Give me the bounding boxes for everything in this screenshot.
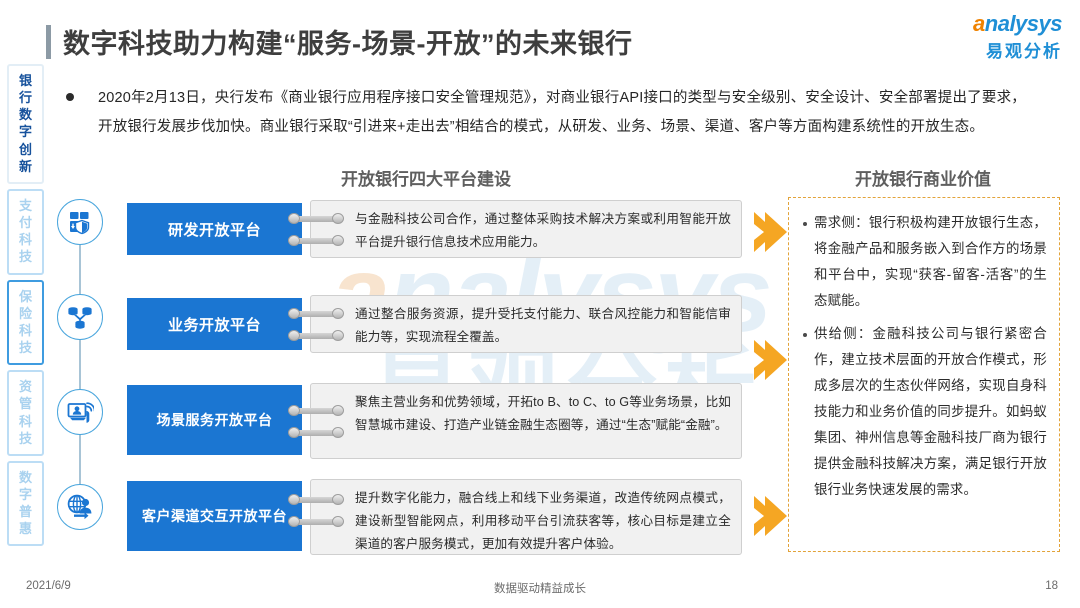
sidebar-item-char: 普 <box>9 503 42 520</box>
sidebar-item-char: 行 <box>9 89 42 106</box>
box-shield-icon <box>57 199 103 245</box>
chain-link-icon <box>288 213 348 224</box>
section-heading-platforms: 开放银行四大平台建设 <box>341 165 511 190</box>
sidebar-item-bank-digital-innovation[interactable]: 银 行 数 字 创 新 <box>7 64 44 184</box>
sidebar-item-char: 惠 <box>9 520 42 537</box>
platform-name: 场景服务开放平台 <box>157 410 273 430</box>
chain-link-icon <box>288 330 348 341</box>
sidebar-item-char: 技 <box>9 248 42 265</box>
platform-box-rd[interactable]: 研发开放平台 <box>127 203 302 255</box>
footer-tagline: 数据驱动精益成长 <box>0 580 1080 596</box>
arrow-chevron-icon <box>752 210 788 254</box>
sidebar-item-insurance-tech[interactable]: 保 险 科 技 <box>7 280 44 366</box>
sidebar-item-char: 新 <box>9 158 42 175</box>
database-funnel-icon <box>57 294 103 340</box>
sidebar-item-digital-inclusive[interactable]: 数 字 普 惠 <box>7 461 44 547</box>
brand-logo-en-rest: nalysys <box>985 11 1062 36</box>
bullet-dot-icon <box>803 222 807 226</box>
footer-page-number: 18 <box>1045 580 1058 592</box>
sidebar-item-char: 付 <box>9 214 42 231</box>
platform-desc-scenario: 聚焦主营业务和优势领域，开拓to B、to C、to G等业务场景，比如智慧城市… <box>310 383 742 459</box>
platform-name: 业务开放平台 <box>168 314 261 335</box>
chain-link-icon <box>288 235 348 246</box>
sidebar-item-char: 支 <box>9 197 42 214</box>
connector-link-channel <box>288 494 348 538</box>
platform-name: 研发开放平台 <box>168 219 261 240</box>
platform-box-channel[interactable]: 客户渠道交互开放平台 <box>127 481 302 551</box>
sidebar-item-char: 技 <box>9 430 42 447</box>
sidebar-tabs: 银 行 数 字 创 新 支 付 科 技 保 险 科 技 资 管 科 技 数 字 <box>7 64 44 551</box>
sidebar-item-char: 字 <box>9 123 42 140</box>
chain-link-icon <box>288 405 348 416</box>
value-point-text: 供给侧：金融科技公司与银行紧密合作，建立技术层面的开放合作模式，形成多层次的生态… <box>814 321 1047 504</box>
footer: 2021/6/9 数据驱动精益成长 18 <box>0 580 1080 598</box>
platform-box-business[interactable]: 业务开放平台 <box>127 298 302 350</box>
platform-name: 客户渠道交互开放平台 <box>142 506 287 526</box>
page-title-text: 数字科技助力构建“服务-场景-开放”的未来银行 <box>63 22 632 61</box>
arrow-chevron-icon <box>752 338 788 382</box>
chain-link-icon <box>288 516 348 527</box>
brand-logo-cn: 易观分析 <box>973 37 1062 62</box>
platform-box-scenario[interactable]: 场景服务开放平台 <box>127 385 302 455</box>
platform-desc-text: 聚焦主营业务和优势领域，开拓to B、to C、to G等业务场景，比如智慧城市… <box>311 384 741 444</box>
brand-logo-a-glyph: a <box>973 11 985 36</box>
business-value-panel: 需求侧：银行积极构建开放银行生态，将金融产品和服务嵌入到合作方的场景和平台中，实… <box>788 197 1060 552</box>
value-point-demand-side: 需求侧：银行积极构建开放银行生态，将金融产品和服务嵌入到合作方的场景和平台中，实… <box>801 210 1047 315</box>
connector-link-business <box>288 308 348 352</box>
platform-desc-text: 通过整合服务资源，提升受托支付能力、联合风控能力和智能信审能力等，实现流程全覆盖… <box>311 296 741 356</box>
intro-paragraph: 2020年2月13日，央行发布《商业银行应用程序接口安全管理规范》，对商业银行A… <box>66 84 1026 142</box>
timeline-rail <box>79 245 81 500</box>
platform-desc-business: 通过整合服务资源，提升受托支付能力、联合风控能力和智能信审能力等，实现流程全覆盖… <box>310 295 742 353</box>
platform-desc-text: 与金融科技公司合作，通过整体采购技术解决方案或利用智能开放平台提升银行信息技术应… <box>311 201 741 261</box>
brand-logo-en: analysys <box>973 12 1062 35</box>
sidebar-item-char: 字 <box>9 486 42 503</box>
arrow-chevron-icon <box>752 494 788 538</box>
sidebar-item-char: 管 <box>9 395 42 412</box>
sidebar-item-char: 资 <box>9 378 42 395</box>
page-title: 数字科技助力构建“服务-场景-开放”的未来银行 <box>46 22 632 61</box>
globe-person-icon <box>57 484 103 530</box>
chain-link-icon <box>288 494 348 505</box>
sidebar-item-char: 数 <box>9 469 42 486</box>
sidebar-item-char: 险 <box>9 305 42 322</box>
connector-link-scenario <box>288 405 348 449</box>
sidebar-item-payment-tech[interactable]: 支 付 科 技 <box>7 189 44 275</box>
sidebar-item-char: 银 <box>9 72 42 89</box>
bullet-dot-icon <box>803 333 807 337</box>
section-heading-business-value: 开放银行商业价值 <box>855 165 991 190</box>
screen-person-icon <box>57 389 103 435</box>
sidebar-item-char: 数 <box>9 106 42 123</box>
sidebar-item-char: 创 <box>9 141 42 158</box>
intro-paragraph-text: 2020年2月13日，央行发布《商业银行应用程序接口安全管理规范》，对商业银行A… <box>98 84 1026 142</box>
bullet-dot-icon <box>66 93 74 101</box>
sidebar-item-char: 保 <box>9 288 42 305</box>
sidebar-item-char: 科 <box>9 322 42 339</box>
sidebar-item-char: 科 <box>9 231 42 248</box>
platform-desc-text: 提升数字化能力，融合线上和线下业务渠道，改造传统网点模式，建设新型智能网点，利用… <box>311 480 741 563</box>
chain-link-icon <box>288 427 348 438</box>
sidebar-item-char: 技 <box>9 339 42 356</box>
platform-desc-channel: 提升数字化能力，融合线上和线下业务渠道，改造传统网点模式，建设新型智能网点，利用… <box>310 479 742 555</box>
title-accent-bar <box>46 25 51 59</box>
chain-link-icon <box>288 308 348 319</box>
sidebar-item-asset-mgmt-tech[interactable]: 资 管 科 技 <box>7 370 44 456</box>
brand-logo: analysys 易观分析 <box>973 12 1062 62</box>
slide-root: analysys 易观分析 数字科技助力构建“服务-场景-开放”的未来银行 an… <box>0 0 1080 608</box>
value-point-text: 需求侧：银行积极构建开放银行生态，将金融产品和服务嵌入到合作方的场景和平台中，实… <box>814 210 1047 315</box>
connector-link-rd <box>288 213 348 257</box>
value-point-supply-side: 供给侧：金融科技公司与银行紧密合作，建立技术层面的开放合作模式，形成多层次的生态… <box>801 321 1047 504</box>
platform-desc-rd: 与金融科技公司合作，通过整体采购技术解决方案或利用智能开放平台提升银行信息技术应… <box>310 200 742 258</box>
sidebar-item-char: 科 <box>9 413 42 430</box>
